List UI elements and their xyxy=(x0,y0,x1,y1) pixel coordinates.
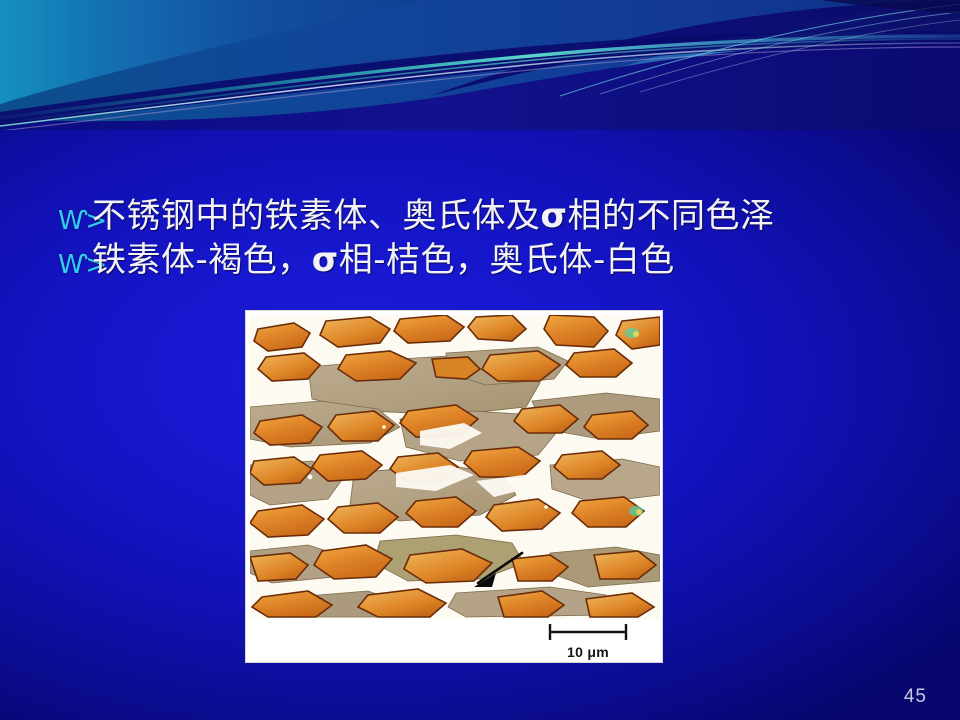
list-item: Ⱳ> 不锈钢中的铁素体、奥氏体及σ相的不同色泽 xyxy=(58,196,908,236)
sigma-symbol: σ xyxy=(312,240,339,280)
scale-bar-label: 10 μm xyxy=(528,644,648,660)
micrograph-figure: 10 μm xyxy=(245,310,663,663)
micrograph-svg xyxy=(250,315,660,619)
scale-bar-graphic xyxy=(528,616,648,646)
swirl-bullet-icon: Ⱳ> xyxy=(58,240,92,278)
scale-bar-10-micrometre: 10 μm xyxy=(528,616,648,658)
flow-ribbon-banner xyxy=(0,0,960,130)
bullet-list: Ⱳ> 不锈钢中的铁素体、奥氏体及σ相的不同色泽 Ⱳ> 铁素体-褐色，σ相-桔色，… xyxy=(58,196,908,284)
bullet-text-line-2: 铁素体-褐色，σ相-桔色，奥氏体-白色 xyxy=(92,240,908,280)
micrograph-image xyxy=(250,315,660,619)
list-item: Ⱳ> 铁素体-褐色，σ相-桔色，奥氏体-白色 xyxy=(58,240,908,280)
swirl-bullet-icon: Ⱳ> xyxy=(58,196,92,234)
page-number: 45 xyxy=(904,686,927,708)
header-ribbon-svg xyxy=(0,0,960,130)
slide-canvas: Ⱳ> 不锈钢中的铁素体、奥氏体及σ相的不同色泽 Ⱳ> 铁素体-褐色，σ相-桔色，… xyxy=(0,0,960,720)
sigma-symbol: σ xyxy=(541,196,568,236)
bullet-text-line-1: 不锈钢中的铁素体、奥氏体及σ相的不同色泽 xyxy=(92,196,908,236)
